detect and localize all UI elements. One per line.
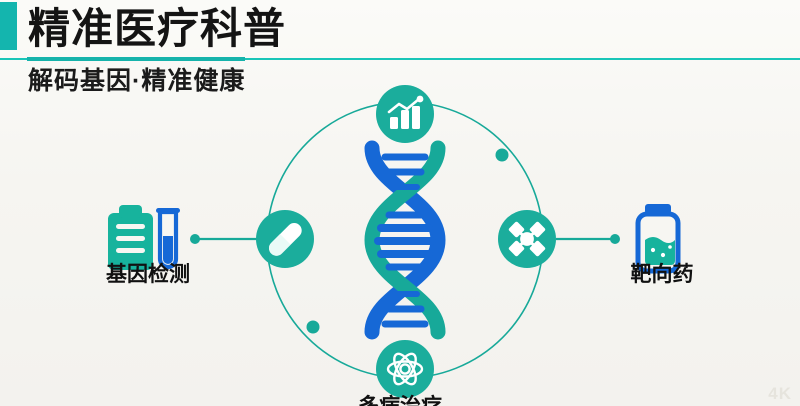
concept-diagram: 基因检测 靶向药 多病治疗 [0, 0, 800, 406]
connector-left [190, 234, 258, 244]
node-right-molecule[interactable] [498, 210, 556, 268]
ring-dot-bottom-left [307, 321, 320, 334]
node-left-capsule[interactable] [256, 210, 314, 268]
dna-double-helix [372, 148, 438, 332]
connector-dot-right [610, 234, 620, 244]
ring-dot-top-right [496, 149, 509, 162]
watermark: 4K [768, 384, 792, 404]
node-top-growth-chart[interactable] [376, 85, 434, 143]
connector-dot-left [190, 234, 200, 244]
slide-canvas: 精准医疗科普 解码基因·精准健康 [0, 0, 800, 406]
label-gene-test: 基因检测 [88, 258, 208, 288]
connector-right [556, 234, 620, 244]
label-multi-disease-treatment: 多病治疗 [345, 390, 455, 406]
label-targeted-drug: 靶向药 [612, 258, 712, 288]
